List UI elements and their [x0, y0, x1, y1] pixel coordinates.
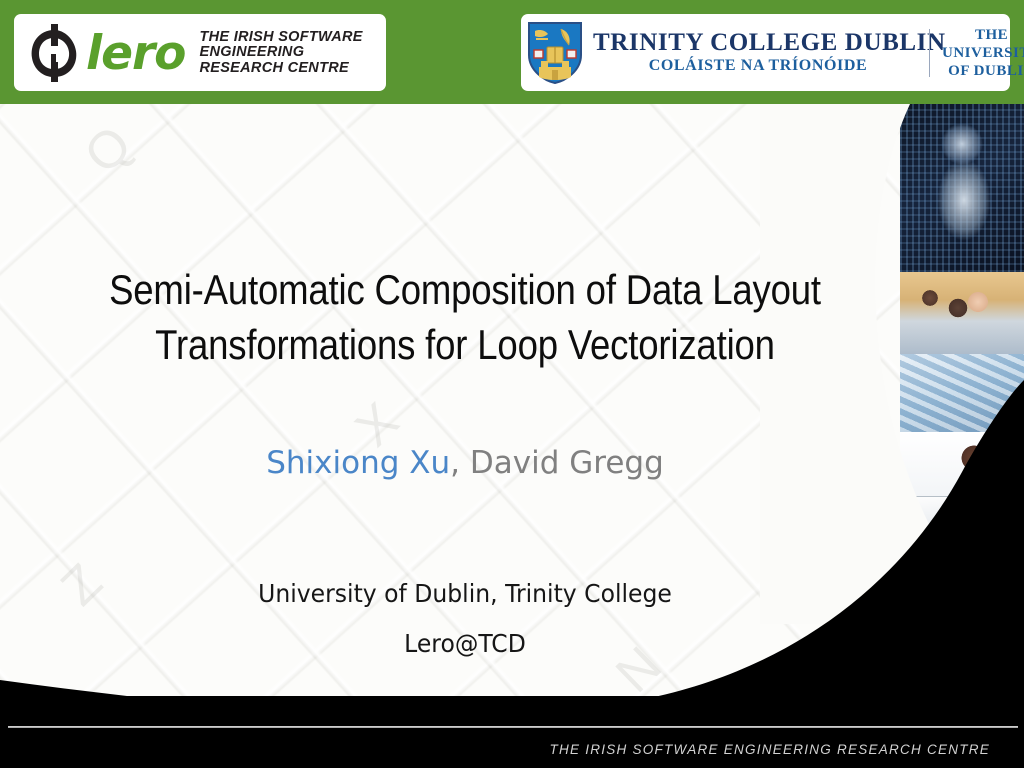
lero-tagline-line-1: THE IRISH SOFTWARE — [199, 30, 362, 46]
tcd-university-line-1: THE — [942, 26, 1024, 44]
tcd-name-block: TRINITY COLLEGE DUBLIN COLÁISTE NA TRÍON… — [593, 29, 923, 76]
lero-tagline: THE IRISH SOFTWARE ENGINEERING RESEARCH … — [199, 30, 362, 77]
photo-strip — [900, 104, 1024, 604]
tcd-name-english: TRINITY COLLEGE DUBLIN — [593, 29, 923, 56]
tcd-university-line-2: UNIVERSITY — [942, 44, 1024, 62]
wireframe-human-figure-image — [900, 104, 1024, 272]
tcd-logo: TRINITY COLLEGE DUBLIN COLÁISTE NA TRÍON… — [521, 14, 1010, 91]
affiliation-block: University of Dublin, Trinity College Le… — [0, 569, 930, 669]
tcd-university-block: THE UNIVERSITY OF DUBLIN — [942, 26, 1024, 80]
lero-tagline-line-3: RESEARCH CENTRE — [199, 61, 362, 77]
laptop-shape — [912, 496, 994, 538]
tcd-divider — [929, 29, 930, 77]
lero-tagline-line-2: ENGINEERING — [199, 45, 362, 61]
author-secondary: , David Gregg — [450, 445, 664, 481]
author-primary: Shixiong Xu — [266, 445, 450, 481]
tcd-university-line-3: OF DUBLIN — [942, 62, 1024, 80]
lero-logo: lero THE IRISH SOFTWARE ENGINEERING RESE… — [14, 14, 386, 91]
footer-divider-rule — [8, 726, 1018, 728]
lero-wordmark: lero — [86, 30, 185, 77]
students-studying-image — [900, 272, 1024, 354]
author-line: Shixiong Xu, David Gregg — [0, 444, 930, 482]
header-band: lero THE IRISH SOFTWARE ENGINEERING RESE… — [0, 0, 1024, 104]
tcd-name-irish: COLÁISTE NA TRÍONÓIDE — [593, 56, 923, 76]
footer-text: THE IRISH SOFTWARE ENGINEERING RESEARCH … — [549, 742, 990, 757]
affiliation-line-2: Lero@TCD — [28, 619, 902, 669]
lero-circle-mark — [26, 24, 82, 82]
slide-title: Semi-Automatic Composition of Data Layou… — [60, 262, 869, 372]
trinity-college-crest — [527, 21, 583, 85]
affiliation-line-1: University of Dublin, Trinity College — [28, 569, 902, 619]
presentation-slide: Q O X Z N lero — [0, 0, 1024, 768]
keyboard-closeup-image — [900, 354, 1024, 432]
